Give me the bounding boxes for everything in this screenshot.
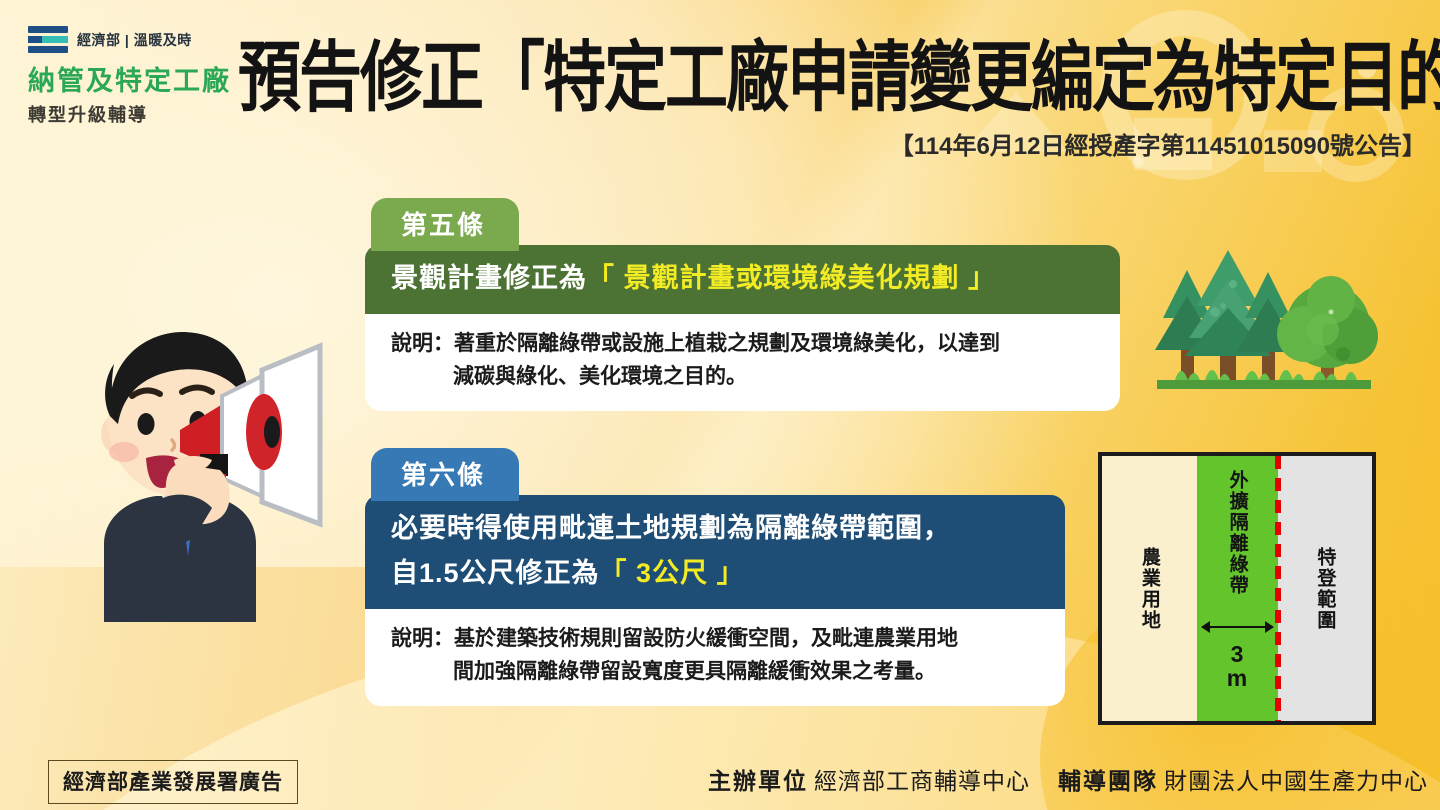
forest-illustration (1145, 238, 1405, 418)
article-6-note-line1: 基於建築技術規則留設防火緩衝空間，及毗連農業用地 (454, 627, 958, 650)
article-5-note-line2: 減碳與綠化、美化環境之目的。 (391, 361, 1094, 394)
organizer-label: 主辦單位 (708, 768, 808, 794)
page-title: 預告修正「特定工廠申請變更編定為特定目的事業用地審查辦法」 (238, 16, 1438, 127)
article-5-note-line1: 著重於隔離綠帶或設施上植栽之規劃及環境綠美化，以達到 (454, 332, 1000, 355)
diagram-farmland-zone: 農業用地 (1102, 456, 1197, 721)
article-6-headline-prefix: 自1.5公尺修正為 (391, 558, 600, 588)
credits: 主辦單位經濟部工商輔導中心輔導團隊財團法人中國生產力中心 (708, 762, 1428, 796)
ministry-name: 經濟部 | 溫暖及時 (77, 30, 192, 50)
article-6-tab: 第六條 (371, 448, 519, 501)
article-6-headline: 必要時得使用毗連土地規劃為隔離綠帶範圍， 自1.5公尺修正為「 3公尺 」 (365, 495, 1065, 609)
article-6-headline-line1: 必要時得使用毗連土地規劃為隔離綠帶範圍， (391, 513, 951, 543)
article-5-headline-prefix: 景觀計畫修正為 (391, 263, 587, 293)
diagram-green-belt-zone: 外擴隔離綠帶 3 m (1197, 456, 1278, 721)
diagram-boundary-dashed-line (1275, 456, 1281, 721)
article-6-note-label: 說明： (391, 627, 454, 650)
article-card-5: 第五條 景觀計畫修正為「 景觀計畫或環境綠美化規劃 」 說明：著重於隔離綠帶或設… (365, 198, 1120, 411)
team-value: 財團法人中國生產力中心 (1164, 768, 1428, 794)
green-belt-diagram: 農業用地 外擴隔離綠帶 3 m 特登範圍 (1098, 452, 1376, 725)
diagram-site-label: 特登範圍 (1314, 547, 1335, 631)
article-5-tab: 第五條 (371, 198, 519, 251)
ministry-bars-icon (28, 26, 68, 53)
article-6-note-line2: 間加強隔離綠帶留設寬度更具隔離緩衝效果之考量。 (391, 656, 1039, 689)
diagram-dimension-unit: m (1197, 666, 1278, 690)
article-card-6: 第六條 必要時得使用毗連土地規劃為隔離綠帶範圍， 自1.5公尺修正為「 3公尺 … (365, 448, 1065, 706)
ad-notice-badge: 經濟部產業發展署廣告 (48, 760, 298, 804)
organizer-value: 經濟部工商輔導中心 (814, 768, 1030, 794)
diagram-dimension-value: 3 (1197, 642, 1278, 666)
program-subtitle: 轉型升級輔導 (28, 101, 243, 127)
diagram-width-arrow-icon (1201, 620, 1274, 634)
article-5-note: 說明：著重於隔離綠帶或設施上植栽之規劃及環境綠美化，以達到 減碳與綠化、美化環境… (365, 314, 1120, 411)
article-5-headline-highlight: 「 景觀計畫或環境綠美化規劃 」 (587, 263, 996, 293)
team-label: 輔導團隊 (1058, 768, 1158, 794)
program-title: 納管及特定工廠 (28, 59, 243, 98)
article-6-headline-highlight: 「 3公尺 」 (600, 558, 745, 588)
diagram-dimension: 3 m (1197, 642, 1278, 690)
diagram-farmland-label: 農業用地 (1139, 547, 1160, 631)
diagram-registered-site-zone: 特登範圍 (1278, 456, 1373, 721)
article-6-note: 說明：基於建築技術規則留設防火緩衝空間，及毗連農業用地 間加強隔離綠帶留設寬度更… (365, 609, 1065, 706)
announcement-reference: 【114年6月12日經授產字第11451015090號公告】 (890, 126, 1426, 161)
article-5-note-label: 說明： (391, 332, 454, 355)
diagram-green-belt-label: 外擴隔離綠帶 (1226, 470, 1247, 596)
article-5-headline: 景觀計畫修正為「 景觀計畫或環境綠美化規劃 」 (365, 245, 1120, 314)
megaphone-man-illustration (58, 312, 348, 622)
program-logo: 經濟部 | 溫暖及時 納管及特定工廠 轉型升級輔導 (28, 26, 243, 127)
